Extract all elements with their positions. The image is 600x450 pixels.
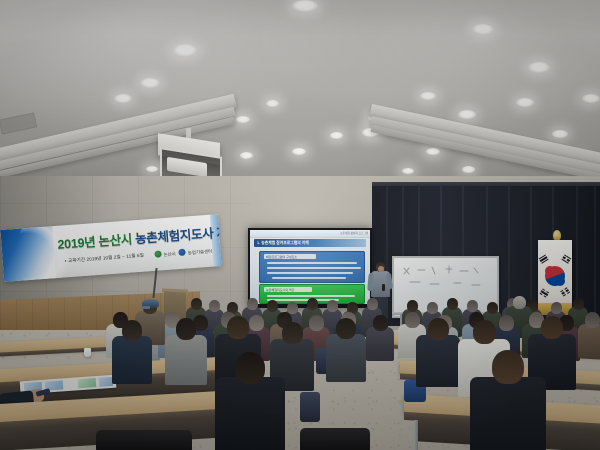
ceiling-downlight (516, 98, 534, 107)
attendee-head (447, 298, 458, 310)
attendee-body (326, 334, 366, 382)
attendee-body (578, 324, 600, 358)
trigram-gam-icon (561, 254, 572, 265)
attendee-head (407, 300, 418, 312)
attendee-head (336, 318, 356, 339)
ceiling-downlight (462, 166, 475, 173)
attendee-head (282, 322, 303, 344)
ceiling-downlight (140, 78, 160, 88)
attendee-head (427, 302, 438, 314)
attendee-head (247, 298, 258, 310)
attendee-head (473, 320, 496, 344)
ceiling-downlight (472, 24, 494, 35)
ceiling-downlight (458, 110, 476, 119)
handheld-microphone (382, 284, 385, 291)
attendee-head (227, 316, 249, 339)
attendee-body (366, 327, 394, 361)
attendee-head (405, 312, 420, 328)
ceiling-downlight (426, 148, 440, 155)
attendee-body (470, 377, 546, 450)
seminar-room-photo: 2019년 논산시 농촌체험지도사 자격과정 ▪ 교육기간 2019년 10월 … (0, 0, 600, 450)
attendee-body (112, 336, 152, 384)
attendee-body (416, 335, 460, 387)
attendee-body (215, 377, 285, 450)
ceiling-downlight (582, 94, 600, 103)
banner-swirl-graphic (0, 226, 56, 282)
banner-title-year-city: 2019년 논산시 (57, 232, 136, 252)
attendee-head (467, 300, 478, 312)
ceiling-downlight (292, 148, 306, 155)
banner-logos: 논산시 농업기술센터 (152, 247, 212, 259)
slide-blue-box-header: 체험프로그램의 구성요소 (264, 254, 316, 259)
ceiling-downlight (240, 152, 253, 159)
attendee-head (541, 316, 563, 339)
attendee-head (309, 315, 324, 331)
slide-blue-box: 체험프로그램의 구성요소 (259, 251, 365, 283)
attendee-head (428, 318, 449, 340)
ceiling-downlight (402, 168, 414, 174)
attendee-head (367, 298, 378, 310)
ceiling-downlight (266, 100, 279, 107)
banner-subtitle: ▪ 교육기간 2019년 10월 2일 ~ 11월 6일 (65, 253, 145, 265)
banner-logo-label-2: 농업기술센터 (188, 249, 213, 256)
presenter-face (378, 266, 384, 272)
table-leg (414, 420, 418, 450)
attendee-head (209, 300, 220, 312)
ceiling-downlight (292, 0, 318, 12)
attendee-body (165, 335, 207, 385)
trigram-gon-icon (560, 290, 567, 298)
attendee-head (373, 315, 388, 331)
chair-back (300, 428, 370, 450)
attendee-head (327, 300, 338, 312)
ceiling-downlight (114, 94, 132, 103)
whiteboard-writing (396, 260, 492, 300)
attendee-head (191, 298, 202, 310)
banner-logo-label-1: 논산시 (163, 251, 175, 257)
attendee-head (585, 312, 600, 328)
agri-center-logo-icon (179, 249, 186, 256)
chair-back (96, 430, 192, 450)
attendee-head (307, 298, 318, 310)
cap-brim (140, 306, 150, 309)
banner-title-course: 농촌체험지도사 자격과정 (135, 223, 222, 246)
slide-title: 1. 농촌체험 참여프로그램의 이해 (254, 239, 366, 247)
taeguk-symbol-icon (545, 266, 565, 286)
slide-header-bar: 농촌체험 활성화 프로그램 (250, 230, 370, 238)
paper-cup (84, 348, 91, 357)
ceiling-light-sheen (0, 0, 600, 196)
attendee-head (122, 320, 142, 341)
attendee-head (249, 315, 264, 331)
attendee-head (573, 298, 584, 310)
attendee-head (513, 296, 526, 309)
ceiling-downlight (172, 44, 198, 57)
bag-on-chair (300, 392, 320, 422)
slide-green-box-header: 농촌체험지도사의 역할 (264, 287, 312, 292)
slide-header-note: 농촌체험 활성화 프로그램 (340, 231, 368, 235)
attendee-head (487, 302, 498, 314)
ceiling-downlight (528, 62, 550, 73)
attendee-head (235, 352, 265, 384)
curtain-fold (594, 186, 596, 326)
ceiling-downlight (420, 92, 436, 100)
ceiling-downlight (330, 132, 343, 139)
trigram-ri-icon (539, 288, 550, 299)
ceiling-downlight (236, 116, 250, 123)
attendee-head (267, 300, 278, 312)
attendee-head (176, 318, 196, 340)
ceiling-downlight (146, 166, 158, 172)
attendee-head (499, 315, 514, 331)
ceiling-downlight (552, 130, 568, 138)
attendee-head (492, 350, 524, 384)
trigram-geon-icon (539, 254, 550, 265)
attendee-head (551, 302, 562, 314)
projection-screen: 농촌체험 활성화 프로그램 1. 농촌체험 참여프로그램의 이해 체험프로그램의… (250, 230, 370, 304)
city-logo-icon (154, 250, 161, 257)
